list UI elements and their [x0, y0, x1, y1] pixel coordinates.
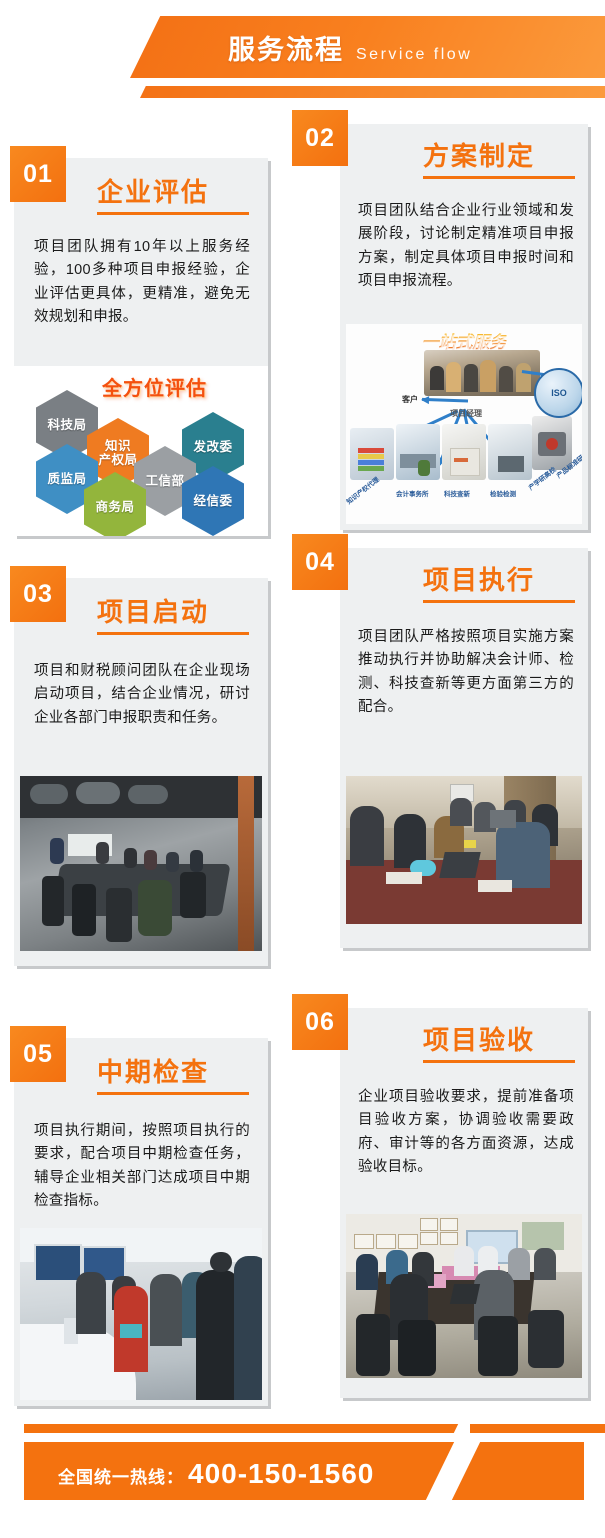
step-card-02[interactable]: 02 方案制定 项目团队结合企业行业领域和发展阶段，讨论制定精准项目申报方案，制…: [340, 124, 588, 530]
step-title: 中期检查: [97, 1052, 209, 1089]
step-body-text: 项目团队拥有10年以上服务经验，100多种项目申报经验，企业评估更具体，更精准，…: [34, 236, 250, 330]
title-underline: [97, 212, 249, 215]
step-number-badge: 05: [10, 1026, 66, 1082]
step-body-text: 企业项目验收要求，提前准备项目验收方案，协调验收需要政府、审计等的各方面资源，达…: [358, 1086, 574, 1180]
step-card-01[interactable]: 01 企业评估 项目团队拥有10年以上服务经验，100多种项目申报经验，企业评估…: [14, 158, 268, 536]
page-title: 服务流程: [228, 28, 344, 67]
oss-branch-photo: [442, 424, 486, 480]
photo-conference-room: [20, 776, 262, 951]
oss-branch-label: 科技查新: [444, 488, 470, 498]
step-body-text: 项目和财税顾问团队在企业现场启动项目，结合企业情况，研讨企业各部门申报职责和任务…: [34, 660, 250, 730]
photo-office-visit: [20, 1228, 262, 1400]
step-card-06[interactable]: 06 项目验收 企业项目验收要求，提前准备项目验收方案，协调验收需要政府、审计等…: [340, 1008, 588, 1398]
step-title: 企业评估: [97, 172, 209, 209]
step-title: 项目启动: [97, 592, 209, 629]
step-title: 项目验收: [423, 1020, 535, 1057]
hexagon-chart: 全方位评估 科技局 知识 产权局 发改委 质监局 工信部 商务局 经信委: [14, 366, 268, 536]
step-card-04[interactable]: 04 项目执行 项目团队严格按照项目实施方案推动执行并协助解决会计师、检测、科技…: [340, 548, 588, 948]
oss-branch-photo: [488, 424, 532, 480]
title-underline: [97, 1092, 249, 1095]
title-underline: [423, 1060, 575, 1063]
step-number-badge: 03: [10, 566, 66, 622]
oss-branch-label: 会计事务所: [396, 488, 429, 498]
title-underline: [423, 176, 575, 179]
photo-boardroom-review: [346, 1214, 582, 1378]
step-card-03[interactable]: 03 项目启动 项目和财税顾问团队在企业现场启动项目，结合企业情况，研讨企业各部…: [14, 578, 268, 966]
header-accent-bar: [140, 86, 605, 98]
oss-arrow: [422, 398, 468, 402]
title-underline: [97, 632, 249, 635]
header-title-group: 服务流程 Service flow: [228, 28, 472, 72]
oss-branch-label: 检验检测: [490, 488, 516, 498]
iso-badge-icon: ISO: [534, 368, 582, 418]
step-card-05[interactable]: 05 中期检查 项目执行期间，按照项目执行的要求，配合项目中期检查任务，辅导企业…: [14, 1038, 268, 1406]
oss-branch-photo: [396, 424, 440, 480]
oss-label-customer: 客户: [402, 394, 418, 405]
oss-center-photo: [424, 350, 540, 396]
page-subtitle: Service flow: [356, 46, 472, 64]
step-number-badge: 01: [10, 146, 66, 202]
step-title: 方案制定: [423, 136, 535, 173]
hotline-label: 全国统一热线：: [58, 1463, 184, 1488]
step-title: 项目执行: [423, 560, 535, 597]
one-stop-service-diagram: 一站式服务 客户 项目经理: [346, 324, 582, 524]
step-number-badge: 02: [292, 110, 348, 166]
step-number-badge: 04: [292, 534, 348, 590]
footer-corner-fill: [470, 1424, 605, 1433]
step-body-text: 项目团队结合企业行业领域和发展阶段，讨论制定精准项目申报方案，制定具体项目申报时…: [358, 200, 574, 294]
step-number-badge: 06: [292, 994, 348, 1050]
title-underline: [423, 600, 575, 603]
photo-meeting-laptops: [346, 776, 582, 924]
step-body-text: 项目团队严格按照项目实施方案推动执行并协助解决会计师、检测、科技查新等更方面第三…: [358, 626, 574, 720]
oss-label-manager: 项目经理: [450, 408, 482, 419]
hotline-number[interactable]: 400-150-1560: [188, 1458, 374, 1490]
step-body-text: 项目执行期间，按照项目执行的要求，配合项目中期检查任务，辅导企业相关部门达成项目…: [34, 1120, 250, 1214]
oss-branch-photo: [350, 428, 394, 480]
hexagon-chart-title: 全方位评估: [102, 372, 207, 401]
page-header: 服务流程 Service flow: [0, 0, 605, 118]
hotline-group: 全国统一热线： 400-150-1560: [58, 1458, 374, 1486]
